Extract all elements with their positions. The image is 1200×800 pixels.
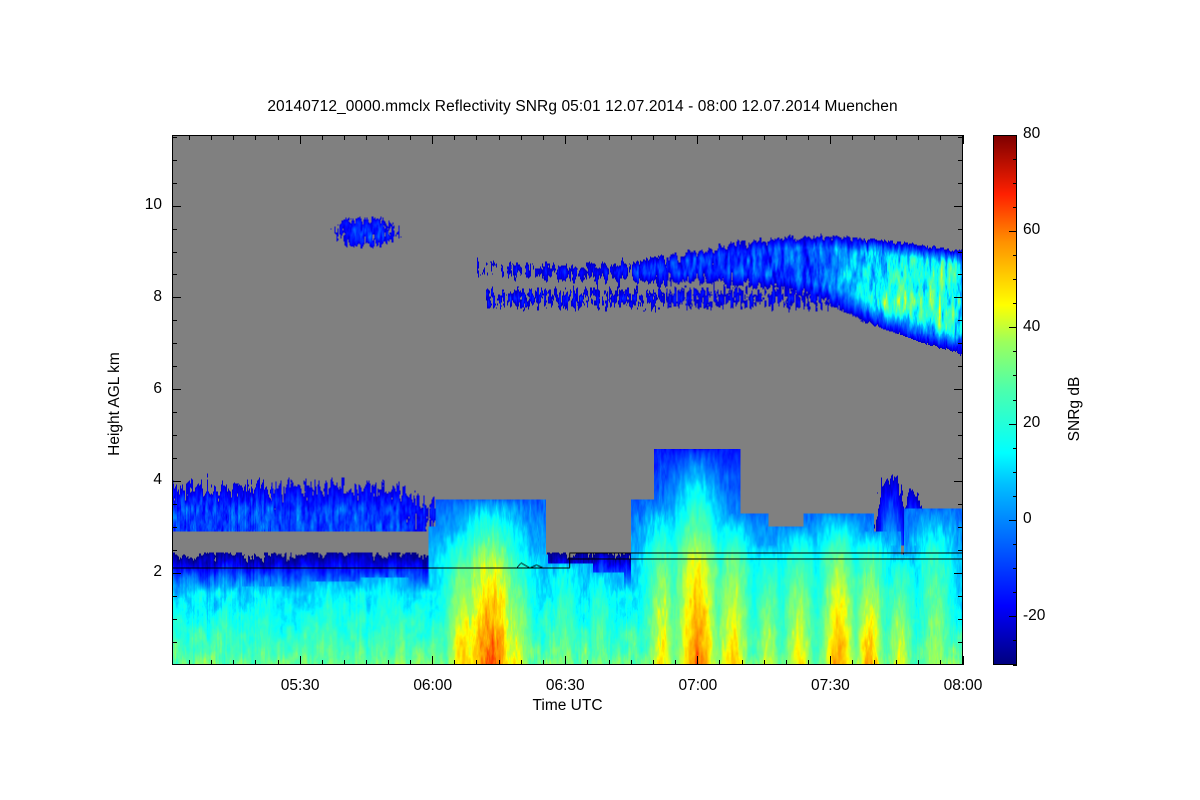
x-minor-tick [609, 135, 610, 140]
x-minor-tick [344, 135, 345, 140]
x-minor-tick [278, 660, 279, 665]
x-minor-tick [410, 660, 411, 665]
colorbar-minor-tick [1013, 375, 1017, 376]
x-minor-tick [764, 135, 765, 140]
x-major-tick [830, 656, 831, 665]
y-minor-tick [172, 619, 177, 620]
y-major-tick [172, 481, 181, 482]
y-minor-tick [172, 160, 177, 161]
x-minor-tick [211, 135, 212, 140]
x-tick-label: 06:30 [520, 677, 610, 695]
y-axis-title: Height AGL km [106, 284, 124, 524]
x-minor-tick [675, 135, 676, 140]
y-minor-tick [958, 435, 963, 436]
x-minor-tick [742, 135, 743, 140]
x-minor-tick [874, 660, 875, 665]
colorbar-minor-tick [1013, 640, 1017, 641]
colorbar-minor-tick [1013, 448, 1017, 449]
y-minor-tick [958, 320, 963, 321]
x-minor-tick [631, 135, 632, 140]
colorbar-tick-label: 60 [1023, 221, 1040, 239]
y-tick-label: 2 [110, 563, 162, 581]
x-minor-tick [543, 660, 544, 665]
colorbar-minor-tick [1013, 183, 1017, 184]
x-minor-tick [388, 660, 389, 665]
colorbar-major-tick [1009, 616, 1017, 617]
y-minor-tick [172, 435, 177, 436]
y-minor-tick [172, 274, 177, 275]
colorbar-minor-tick [1013, 207, 1017, 208]
y-minor-tick [172, 527, 177, 528]
y-minor-tick [958, 504, 963, 505]
y-major-tick [954, 573, 963, 574]
y-minor-tick [172, 343, 177, 344]
x-minor-tick [476, 660, 477, 665]
colorbar-major-tick [1009, 135, 1017, 136]
colorbar-minor-tick [1013, 568, 1017, 569]
colorbar-minor-tick [1013, 496, 1017, 497]
y-minor-tick [172, 458, 177, 459]
y-minor-tick [172, 137, 177, 138]
y-minor-tick [958, 550, 963, 551]
x-minor-tick [388, 135, 389, 140]
y-major-tick [172, 389, 181, 390]
y-minor-tick [958, 619, 963, 620]
y-major-tick [954, 206, 963, 207]
x-minor-tick [366, 660, 367, 665]
x-minor-tick [499, 660, 500, 665]
x-minor-tick [786, 135, 787, 140]
x-axis-title: Time UTC [172, 697, 963, 715]
figure-title: 20140712_0000.mmclx Reflectivity SNRg 05… [0, 98, 1165, 116]
x-minor-tick [543, 135, 544, 140]
y-minor-tick [958, 412, 963, 413]
x-minor-tick [587, 135, 588, 140]
reflectivity-heatmap-canvas [173, 136, 962, 664]
x-minor-tick [675, 660, 676, 665]
colorbar-minor-tick [1013, 255, 1017, 256]
x-tick-label: 06:00 [388, 677, 478, 695]
colorbar-tick-label: 20 [1023, 414, 1040, 432]
x-major-tick [432, 656, 433, 665]
x-minor-tick [874, 135, 875, 140]
y-minor-tick [172, 642, 177, 643]
x-minor-tick [189, 660, 190, 665]
x-minor-tick [278, 135, 279, 140]
colorbar-major-tick [1009, 424, 1017, 425]
colorbar-minor-tick [1013, 544, 1017, 545]
y-minor-tick [172, 504, 177, 505]
y-minor-tick [172, 252, 177, 253]
colorbar-major-tick [1009, 327, 1017, 328]
y-major-tick [172, 573, 181, 574]
y-minor-tick [958, 343, 963, 344]
colorbar-minor-tick [1013, 159, 1017, 160]
x-minor-tick [808, 135, 809, 140]
y-minor-tick [172, 229, 177, 230]
y-minor-tick [958, 642, 963, 643]
colorbar-tick-label: 0 [1023, 510, 1032, 528]
x-minor-tick [322, 135, 323, 140]
colorbar-tick-label: -20 [1023, 607, 1045, 625]
y-minor-tick [958, 160, 963, 161]
x-minor-tick [587, 660, 588, 665]
x-major-tick [300, 656, 301, 665]
x-minor-tick [896, 135, 897, 140]
x-minor-tick [454, 135, 455, 140]
x-minor-tick [719, 135, 720, 140]
y-minor-tick [958, 252, 963, 253]
x-minor-tick [255, 135, 256, 140]
x-major-tick [697, 656, 698, 665]
y-major-tick [954, 297, 963, 298]
y-minor-tick [958, 137, 963, 138]
x-minor-tick [233, 660, 234, 665]
x-minor-tick [852, 135, 853, 140]
y-major-tick [954, 389, 963, 390]
x-minor-tick [233, 135, 234, 140]
x-minor-tick [940, 660, 941, 665]
heatmap-plot-area [172, 135, 963, 665]
x-minor-tick [653, 135, 654, 140]
x-minor-tick [255, 660, 256, 665]
y-major-tick [172, 297, 181, 298]
x-tick-label: 05:30 [255, 677, 345, 695]
colorbar-minor-tick [1013, 665, 1017, 666]
x-minor-tick [742, 660, 743, 665]
x-tick-label: 07:30 [785, 677, 875, 695]
colorbar-major-tick [1009, 520, 1017, 521]
y-minor-tick [172, 366, 177, 367]
colorbar-minor-tick [1013, 279, 1017, 280]
colorbar-minor-tick [1013, 400, 1017, 401]
x-minor-tick [609, 660, 610, 665]
colorbar-minor-tick [1013, 592, 1017, 593]
x-minor-tick [476, 135, 477, 140]
x-minor-tick [521, 660, 522, 665]
x-minor-tick [410, 135, 411, 140]
x-major-tick [830, 135, 831, 144]
x-minor-tick [189, 135, 190, 140]
x-major-tick [300, 135, 301, 144]
y-minor-tick [958, 596, 963, 597]
colorbar-minor-tick [1013, 351, 1017, 352]
colorbar-tick-label: 80 [1023, 125, 1040, 143]
y-minor-tick [958, 274, 963, 275]
x-tick-label: 08:00 [918, 677, 1008, 695]
y-tick-label: 10 [110, 196, 162, 214]
y-minor-tick [958, 229, 963, 230]
x-major-tick [565, 656, 566, 665]
y-minor-tick [172, 596, 177, 597]
colorbar-minor-tick [1013, 303, 1017, 304]
x-minor-tick [211, 660, 212, 665]
y-minor-tick [172, 183, 177, 184]
x-minor-tick [719, 660, 720, 665]
x-minor-tick [521, 135, 522, 140]
x-minor-tick [808, 660, 809, 665]
colorbar-minor-tick [1013, 472, 1017, 473]
x-minor-tick [764, 660, 765, 665]
x-minor-tick [344, 660, 345, 665]
y-minor-tick [172, 412, 177, 413]
x-minor-tick [653, 660, 654, 665]
y-minor-tick [958, 366, 963, 367]
x-minor-tick [454, 660, 455, 665]
x-major-tick [432, 135, 433, 144]
x-minor-tick [366, 135, 367, 140]
x-minor-tick [322, 660, 323, 665]
x-major-tick [565, 135, 566, 144]
x-minor-tick [918, 135, 919, 140]
y-minor-tick [958, 183, 963, 184]
x-minor-tick [786, 660, 787, 665]
colorbar-tick-label: 40 [1023, 318, 1040, 336]
x-minor-tick [896, 660, 897, 665]
colorbar-title: SNRg dB [1066, 309, 1084, 509]
x-minor-tick [499, 135, 500, 140]
x-major-tick [963, 656, 964, 665]
y-minor-tick [172, 550, 177, 551]
y-major-tick [172, 206, 181, 207]
x-tick-label: 07:00 [653, 677, 743, 695]
y-minor-tick [958, 458, 963, 459]
y-minor-tick [958, 527, 963, 528]
x-minor-tick [940, 135, 941, 140]
x-minor-tick [631, 660, 632, 665]
radar-quicklook-figure: 20140712_0000.mmclx Reflectivity SNRg 05… [0, 0, 1200, 800]
x-minor-tick [852, 660, 853, 665]
x-major-tick [697, 135, 698, 144]
y-minor-tick [172, 320, 177, 321]
colorbar-major-tick [1009, 231, 1017, 232]
x-minor-tick [918, 660, 919, 665]
y-major-tick [954, 481, 963, 482]
